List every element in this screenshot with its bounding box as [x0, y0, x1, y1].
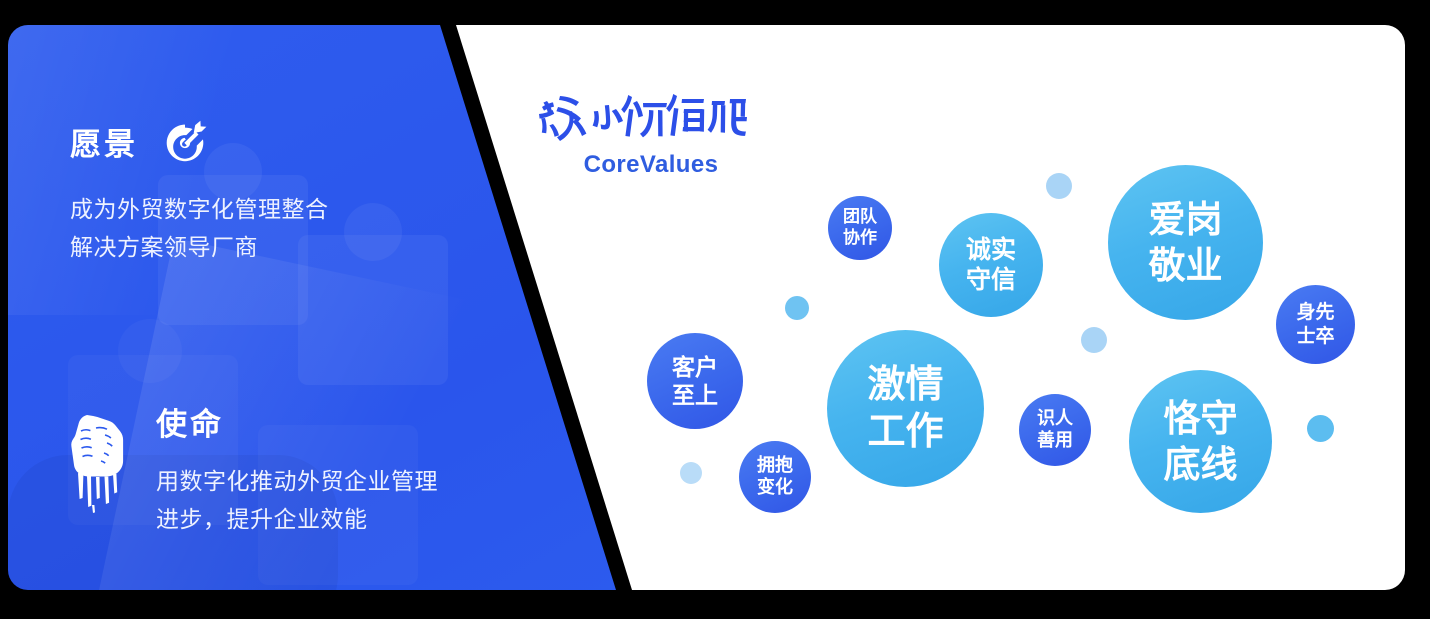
mission-title: 使命 — [156, 409, 438, 440]
calligraphy-core-values — [536, 87, 766, 149]
vision-title: 愿景 — [70, 129, 138, 160]
vision-header: 愿景 — [70, 120, 450, 168]
value-bubble[interactable]: 拥抱 变化 — [739, 441, 811, 513]
value-bubble[interactable]: 爱岗 敬业 — [1108, 165, 1263, 320]
decorative-dot — [680, 462, 702, 484]
mission-text-wrap: 使命 用数字化推动外贸企业管理 进步，提升企业效能 — [156, 403, 438, 538]
decorative-dot — [785, 296, 809, 320]
decorative-dot — [1046, 173, 1072, 199]
value-bubble[interactable]: 诚实 守信 — [939, 213, 1043, 317]
value-bubble[interactable]: 恪守 底线 — [1129, 370, 1272, 513]
value-bubble[interactable]: 客户 至上 — [647, 333, 743, 429]
value-bubble[interactable]: 识人 善用 — [1019, 394, 1091, 466]
raised-fist-icon — [66, 403, 132, 538]
target-arrow-icon — [162, 120, 210, 168]
value-bubble[interactable]: 团队 协作 — [828, 196, 892, 260]
value-bubble[interactable]: 身先 士卒 — [1276, 285, 1355, 364]
slide-canvas: 愿景 成为外贸数字化管理整合 解决方案领导厂商 — [0, 0, 1430, 619]
core-values-logo: CoreValues — [536, 87, 766, 179]
decorative-dot — [1081, 327, 1107, 353]
mission-block: 使命 用数字化推动外贸企业管理 进步，提升企业效能 — [66, 403, 526, 538]
core-values-subtitle: CoreValues — [536, 151, 766, 179]
vision-block: 愿景 成为外贸数字化管理整合 解决方案领导厂商 — [70, 120, 450, 266]
values-card: 愿景 成为外贸数字化管理整合 解决方案领导厂商 — [8, 25, 1405, 590]
value-bubble[interactable]: 激情 工作 — [827, 330, 984, 487]
mission-text: 用数字化推动外贸企业管理 进步，提升企业效能 — [156, 462, 438, 538]
vision-text: 成为外贸数字化管理整合 解决方案领导厂商 — [70, 190, 450, 266]
decorative-dot — [1307, 415, 1334, 442]
